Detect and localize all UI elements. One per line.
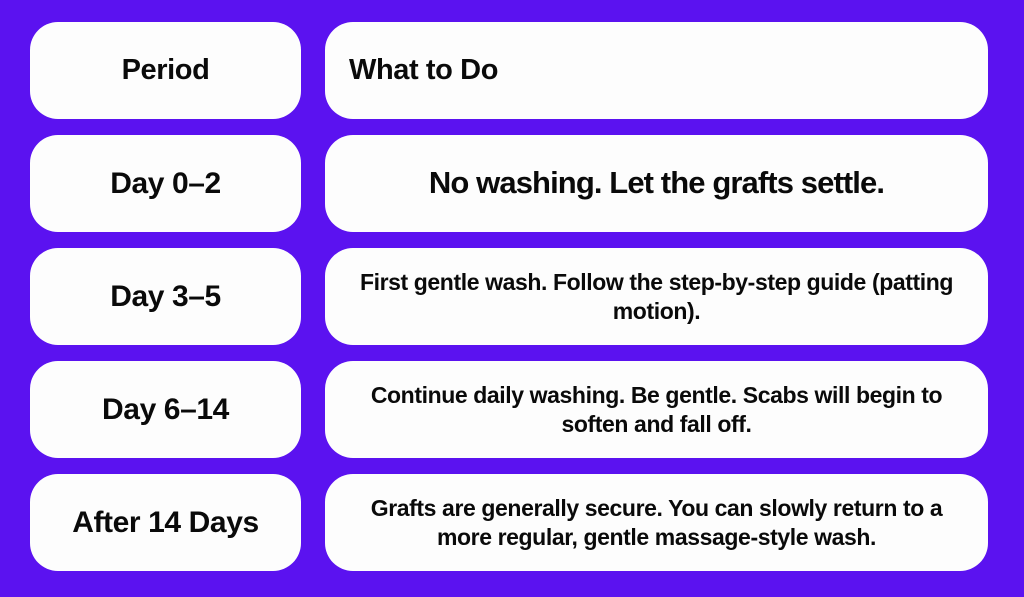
action-label: First gentle wash. Follow the step-by-st… — [343, 268, 970, 325]
period-label: Day 3–5 — [40, 280, 291, 313]
table-row: After 14 Days Grafts are generally secur… — [30, 474, 988, 571]
table-row: Day 0–2 No washing. Let the grafts settl… — [30, 135, 988, 232]
cell-period: After 14 Days — [30, 474, 301, 571]
action-label: Continue daily washing. Be gentle. Scabs… — [343, 381, 970, 438]
period-label: Day 6–14 — [40, 393, 291, 426]
table-header-row: Period What to Do — [30, 22, 988, 119]
header-cell-period: Period — [30, 22, 301, 119]
header-cell-action: What to Do — [325, 22, 988, 119]
cell-action: Continue daily washing. Be gentle. Scabs… — [325, 361, 988, 458]
action-label: No washing. Let the grafts settle. — [343, 164, 970, 202]
cell-action: First gentle wash. Follow the step-by-st… — [325, 248, 988, 345]
cell-period: Day 0–2 — [30, 135, 301, 232]
schedule-table: Period What to Do Day 0–2 No washing. Le… — [0, 0, 1024, 597]
cell-action: No washing. Let the grafts settle. — [325, 135, 988, 232]
header-period-label: Period — [40, 55, 291, 87]
cell-action: Grafts are generally secure. You can slo… — [325, 474, 988, 571]
table-row: Day 3–5 First gentle wash. Follow the st… — [30, 248, 988, 345]
header-action-label: What to Do — [349, 53, 970, 89]
table-row: Day 6–14 Continue daily washing. Be gent… — [30, 361, 988, 458]
action-label: Grafts are generally secure. You can slo… — [343, 494, 970, 551]
cell-period: Day 6–14 — [30, 361, 301, 458]
period-label: After 14 Days — [40, 506, 291, 539]
cell-period: Day 3–5 — [30, 248, 301, 345]
period-label: Day 0–2 — [40, 167, 291, 200]
